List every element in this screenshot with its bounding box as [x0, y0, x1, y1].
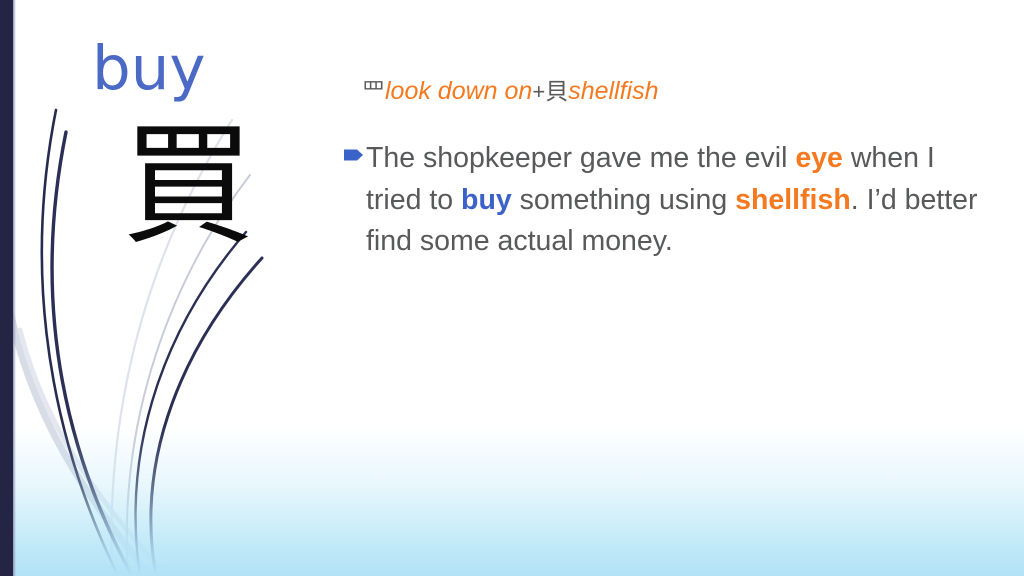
left-accent-bar	[0, 0, 13, 576]
plus-separator: +	[532, 79, 545, 104]
gloss-look-down-on: look down on	[385, 77, 532, 105]
sentence-segment-1: eye	[795, 142, 843, 174]
mnemonic-block: The shopkeeper gave me the evil eye when…	[344, 138, 984, 263]
gloss-shellfish: shellfish	[568, 77, 658, 105]
radical-shell-icon: 貝	[545, 79, 568, 105]
page-title-english: buy	[92, 38, 205, 99]
component-breakdown: 罒look down on+貝shellfish	[362, 76, 982, 107]
mnemonic-sentence: The shopkeeper gave me the evil eye when…	[366, 138, 984, 263]
sentence-segment-3: buy	[461, 184, 512, 216]
page-title-hanzi: 買	[122, 120, 254, 252]
slide-canvas: buy 買 罒look down on+貝shellfish The shopk…	[0, 0, 1024, 576]
left-accent-bar-highlight	[13, 0, 16, 576]
sentence-segment-4: something using	[512, 184, 735, 216]
sentence-segment-0: The shopkeeper gave me the evil	[366, 142, 795, 174]
sentence-segment-5: shellfish	[735, 184, 851, 216]
radical-net-icon: 罒	[362, 79, 385, 105]
arrow-bullet-icon	[344, 148, 364, 167]
bottom-gradient-wash	[0, 426, 1024, 576]
